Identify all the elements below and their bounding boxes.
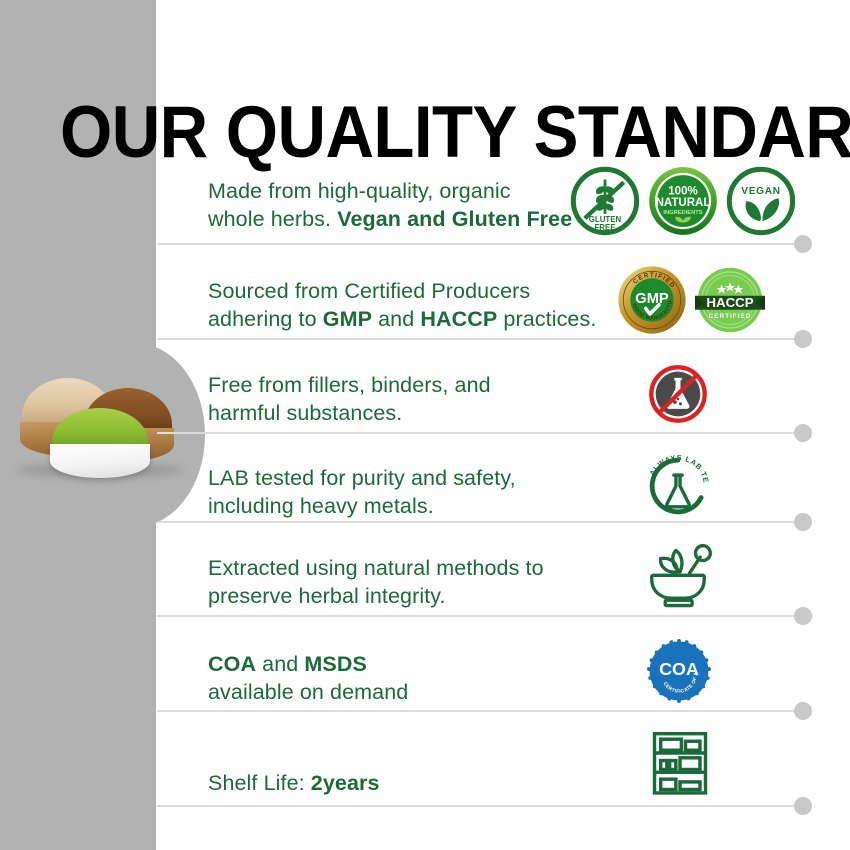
- coa-badge-icon: COA CERTIFICATE OF ANALYSIS: [647, 639, 711, 703]
- row-text-shelf-life: Shelf Life: 2years: [208, 769, 380, 797]
- haccp-certified-badge-icon: HACCP CERTIFIED: [695, 265, 765, 335]
- mortar-and-pestle-icon: [641, 541, 715, 611]
- divider-dot-7: [794, 797, 812, 815]
- row1-line2-bold: Vegan and Gluten Free: [337, 207, 572, 231]
- row4-icon-group: ALWAYS LAB TESTED: [642, 452, 714, 520]
- row3-line2: harmful substances.: [208, 401, 402, 425]
- gmp-certified-badge-icon: CERTIFIED GOOD MANUFACTURING PRACTICE GM…: [617, 265, 687, 335]
- list-item-certified-producers: Sourced from Certified Producers adherin…: [157, 262, 850, 337]
- row6-bold-msds: MSDS: [304, 652, 367, 676]
- row-text-certified: Sourced from Certified Producers adherin…: [208, 277, 596, 334]
- row-text-coa: COA and MSDS available on demand: [208, 650, 408, 707]
- row2-bold-gmp: GMP: [323, 307, 372, 331]
- row2-bold-haccp: HACCP: [420, 307, 497, 331]
- divider-3: [157, 432, 803, 434]
- row2-line1: Sourced from Certified Producers: [208, 279, 530, 303]
- always-lab-tested-icon: ALWAYS LAB TESTED: [644, 452, 712, 520]
- divider-2: [157, 338, 803, 340]
- page-title: OUR QUALITY STANDARDS: [60, 96, 850, 169]
- row2-icon-group: CERTIFIED GOOD MANUFACTURING PRACTICE GM…: [601, 264, 781, 336]
- divider-4: [157, 521, 803, 523]
- row6-line1-a: and: [256, 652, 304, 676]
- divider-7: [157, 805, 803, 807]
- natural-word-label: NATURAL: [656, 197, 711, 209]
- vegan-label: VEGAN: [741, 186, 780, 197]
- list-item-coa-msds: COA and MSDS available on demand: [157, 635, 850, 710]
- infographic-page: OUR QUALITY STANDARDS Made from high-qua…: [0, 0, 850, 850]
- row2-line2-b: and: [372, 307, 420, 331]
- haccp-sub-label: CERTIFIED: [709, 313, 752, 320]
- row1-line2-normal: whole herbs.: [208, 207, 337, 231]
- row7-icon-group: [645, 728, 715, 800]
- coa-main-label: COA: [659, 659, 699, 679]
- list-item-shelf-life: Shelf Life: 2years: [157, 728, 850, 805]
- row1-icon-group: GLUTEN FREE 100%: [568, 165, 798, 237]
- row4-line2: including heavy metals.: [208, 494, 434, 518]
- row-text-fillers: Free from fillers, binders, and harmful …: [208, 371, 491, 428]
- divider-dot-5: [794, 607, 812, 625]
- storage-shelf-rack-icon: [649, 729, 711, 799]
- gluten-free-badge-icon: GLUTEN FREE: [569, 165, 641, 237]
- row6-bold-coa: COA: [208, 652, 256, 676]
- haccp-main-label: HACCP: [706, 295, 753, 310]
- row6-icon-group: COA CERTIFICATE OF ANALYSIS: [644, 638, 714, 704]
- divider-dot-3: [794, 424, 812, 442]
- row3-line1: Free from fillers, binders, and: [208, 373, 491, 397]
- row7-line1-bold: 2years: [311, 771, 380, 795]
- natural-sub-label: INGREDIENTS: [663, 210, 702, 216]
- gmp-main-label: GMP: [635, 291, 669, 307]
- row2-line2-c: practices.: [497, 307, 596, 331]
- divider-6: [157, 710, 803, 712]
- divider-dot-1: [794, 235, 812, 253]
- row5-icon-group: [640, 540, 716, 612]
- row3-icon-group: [642, 363, 714, 425]
- list-item-free-from-fillers: Free from fillers, binders, and harmful …: [157, 357, 850, 432]
- gluten-free-label-line2: FREE: [594, 223, 615, 232]
- list-item-organic-whole-herbs: Made from high-quality, organic whole he…: [157, 165, 850, 240]
- row5-line2: preserve herbal integrity.: [208, 584, 446, 608]
- divider-dot-2: [794, 330, 812, 348]
- 100-percent-natural-badge-icon: 100% NATURAL INGREDIENTS: [647, 165, 719, 237]
- divider-dot-4: [794, 513, 812, 531]
- vegan-badge-icon: VEGAN: [725, 165, 797, 237]
- row7-line1-normal: Shelf Life:: [208, 771, 311, 795]
- divider-1: [157, 243, 803, 245]
- divider-5: [157, 615, 803, 617]
- row-text-organic: Made from high-quality, organic whole he…: [208, 177, 572, 234]
- row5-line1: Extracted using natural methods to: [208, 556, 544, 580]
- list-item-natural-extraction: Extracted using natural methods to prese…: [157, 540, 850, 615]
- row6-line2: available on demand: [208, 680, 408, 704]
- row4-line1: LAB tested for purity and safety,: [208, 466, 516, 490]
- divider-dot-6: [794, 702, 812, 720]
- row2-line2-a: adhering to: [208, 307, 323, 331]
- no-chemicals-flask-icon: [647, 363, 709, 425]
- row-text-extraction: Extracted using natural methods to prese…: [208, 554, 544, 611]
- list-item-lab-tested: LAB tested for purity and safety, includ…: [157, 450, 850, 525]
- natural-percent-label: 100%: [668, 186, 697, 198]
- row1-line1: Made from high-quality, organic: [208, 179, 511, 203]
- row-text-lab: LAB tested for purity and safety, includ…: [208, 464, 516, 521]
